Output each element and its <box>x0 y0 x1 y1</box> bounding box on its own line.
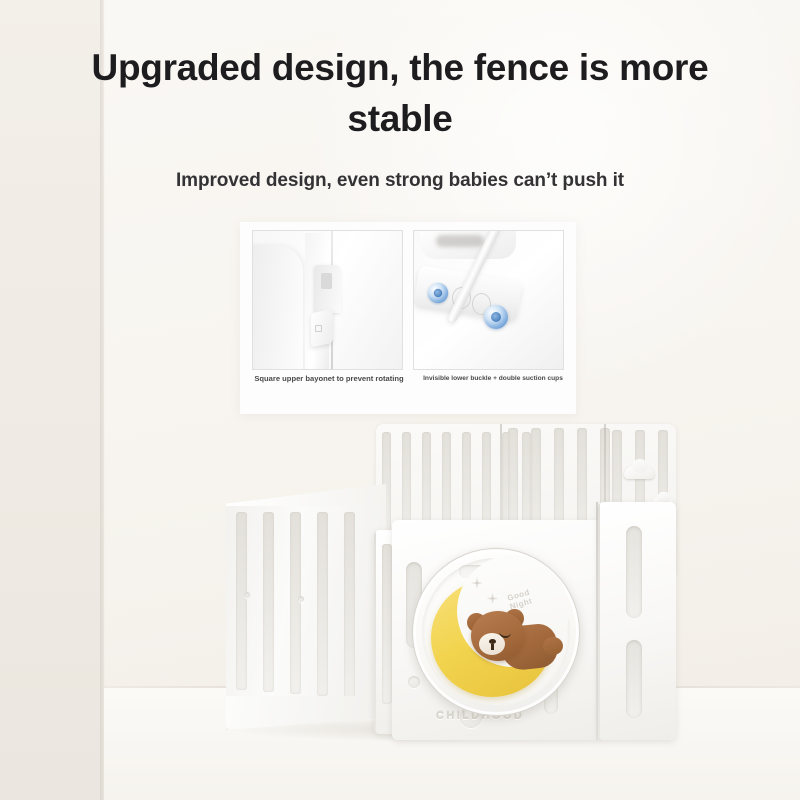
playpen-medallion: Good Night <box>412 548 580 716</box>
detail-caption-bayonet: Square upper bayonet to prevent rotating <box>252 374 406 384</box>
cloud-motif-icon <box>624 466 654 479</box>
detail-caption-suction: Invisible lower buckle + double suction … <box>416 374 570 384</box>
detail-card: Square upper bayonet to prevent rotating… <box>240 222 576 414</box>
subheadline: Improved design, even strong babies can’… <box>60 170 740 192</box>
baby-playpen: CHILDHOOD Good Night <box>226 424 676 754</box>
product-marketing-image: Upgraded design, the fence is more stabl… <box>0 0 800 800</box>
sparkle-star-icon <box>487 593 498 604</box>
detail-caption-row: Square upper bayonet to prevent rotating… <box>252 374 570 384</box>
headline: Upgraded design, the fence is more stabl… <box>60 42 740 144</box>
sparkle-star-icon <box>469 575 485 591</box>
detail-photo-row <box>252 230 564 370</box>
suction-cup-icon <box>428 283 448 303</box>
suction-cup-photo <box>413 230 564 370</box>
playpen-left-wing-panel <box>226 484 386 730</box>
suction-cup-icon <box>484 305 508 329</box>
sleeping-bear-icon <box>469 611 561 673</box>
bayonet-joint-photo <box>252 230 403 370</box>
playpen-right-panel <box>598 502 676 740</box>
